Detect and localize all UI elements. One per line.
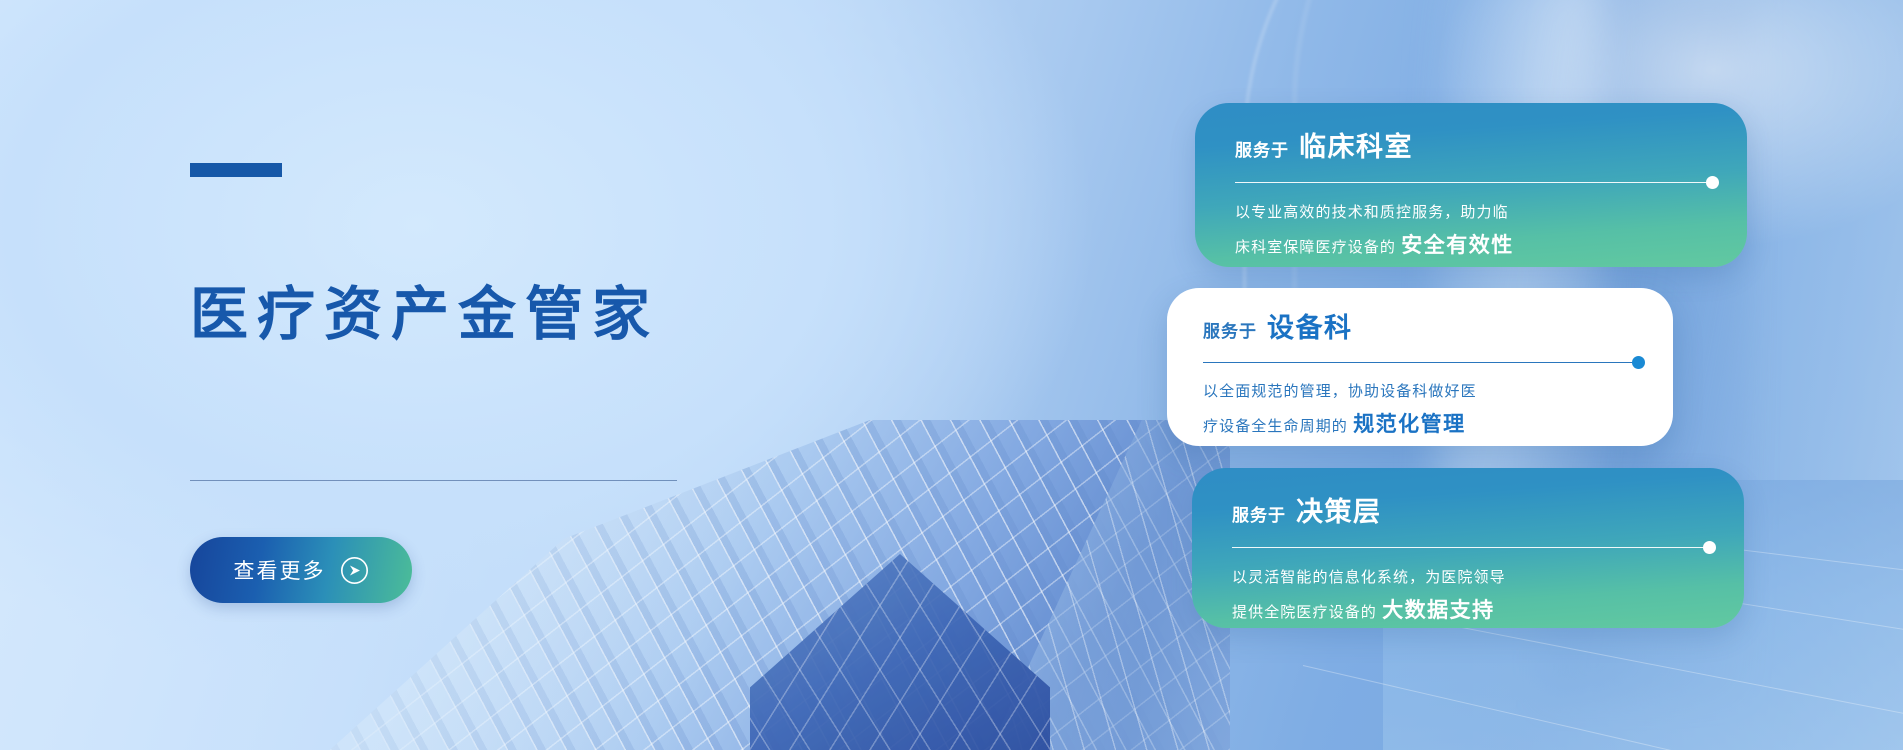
card-desc-line-2: 床科室保障医疗设备的 安全有效性 bbox=[1235, 227, 1713, 264]
card-desc-line-1: 以专业高效的技术和质控服务，助力临 bbox=[1235, 200, 1713, 227]
card-prefix: 服务于 bbox=[1232, 501, 1286, 526]
card-heading: 服务于 临床科室 bbox=[1235, 125, 1713, 164]
card-desc-line-2: 提供全院医疗设备的 大数据支持 bbox=[1232, 592, 1710, 629]
card-rule bbox=[1232, 541, 1716, 554]
card-desc-highlight: 规范化管理 bbox=[1353, 413, 1466, 436]
card-description: 以全面规范的管理，协助设备科做好医 疗设备全生命周期的 规范化管理 bbox=[1203, 379, 1643, 443]
view-more-button[interactable]: 查看更多 bbox=[190, 537, 412, 603]
card-desc-line-2: 疗设备全生命周期的 规范化管理 bbox=[1203, 406, 1643, 443]
card-prefix: 服务于 bbox=[1235, 136, 1289, 161]
card-rule bbox=[1203, 356, 1645, 369]
service-card-equipment-dept[interactable]: 服务于 设备科 以全面规范的管理，协助设备科做好医 疗设备全生命周期的 规范化管… bbox=[1167, 288, 1673, 446]
card-desc-plain: 床科室保障医疗设备的 bbox=[1235, 239, 1396, 256]
card-target: 决策层 bbox=[1296, 490, 1382, 529]
accent-bar bbox=[190, 163, 282, 177]
card-description: 以灵活智能的信息化系统，为医院领导 提供全院医疗设备的 大数据支持 bbox=[1232, 565, 1710, 629]
card-heading: 服务于 决策层 bbox=[1232, 490, 1710, 529]
card-desc-line-1: 以灵活智能的信息化系统，为医院领导 bbox=[1232, 565, 1710, 592]
view-more-label: 查看更多 bbox=[234, 555, 326, 585]
card-desc-plain: 提供全院医疗设备的 bbox=[1232, 604, 1377, 621]
card-desc-highlight: 安全有效性 bbox=[1401, 234, 1514, 257]
rule-end-dot bbox=[1632, 356, 1645, 369]
circle-arrow-right-icon bbox=[340, 556, 369, 585]
card-target: 设备科 bbox=[1267, 306, 1353, 345]
service-card-clinical[interactable]: 服务于 临床科室 以专业高效的技术和质控服务，助力临 床科室保障医疗设备的 安全… bbox=[1195, 103, 1747, 267]
divider bbox=[190, 480, 677, 481]
rule-end-dot bbox=[1703, 541, 1716, 554]
hero-banner: 医疗资产金管家 查看更多 服务于 临床科室 以专业高效的技术和质控服务，助力临 … bbox=[0, 0, 1903, 750]
card-prefix: 服务于 bbox=[1203, 317, 1257, 342]
service-card-decision-layer[interactable]: 服务于 决策层 以灵活智能的信息化系统，为医院领导 提供全院医疗设备的 大数据支… bbox=[1192, 468, 1744, 628]
card-target: 临床科室 bbox=[1299, 125, 1413, 164]
page-title: 医疗资产金管家 bbox=[190, 286, 659, 344]
hero-left-content: 医疗资产金管家 查看更多 bbox=[190, 0, 810, 750]
card-desc-line-1: 以全面规范的管理，协助设备科做好医 bbox=[1203, 379, 1643, 406]
card-desc-plain: 疗设备全生命周期的 bbox=[1203, 418, 1348, 435]
rule-end-dot bbox=[1706, 176, 1719, 189]
card-description: 以专业高效的技术和质控服务，助力临 床科室保障医疗设备的 安全有效性 bbox=[1235, 200, 1713, 264]
card-desc-highlight: 大数据支持 bbox=[1382, 599, 1495, 622]
card-rule bbox=[1235, 176, 1719, 189]
card-heading: 服务于 设备科 bbox=[1203, 306, 1643, 345]
